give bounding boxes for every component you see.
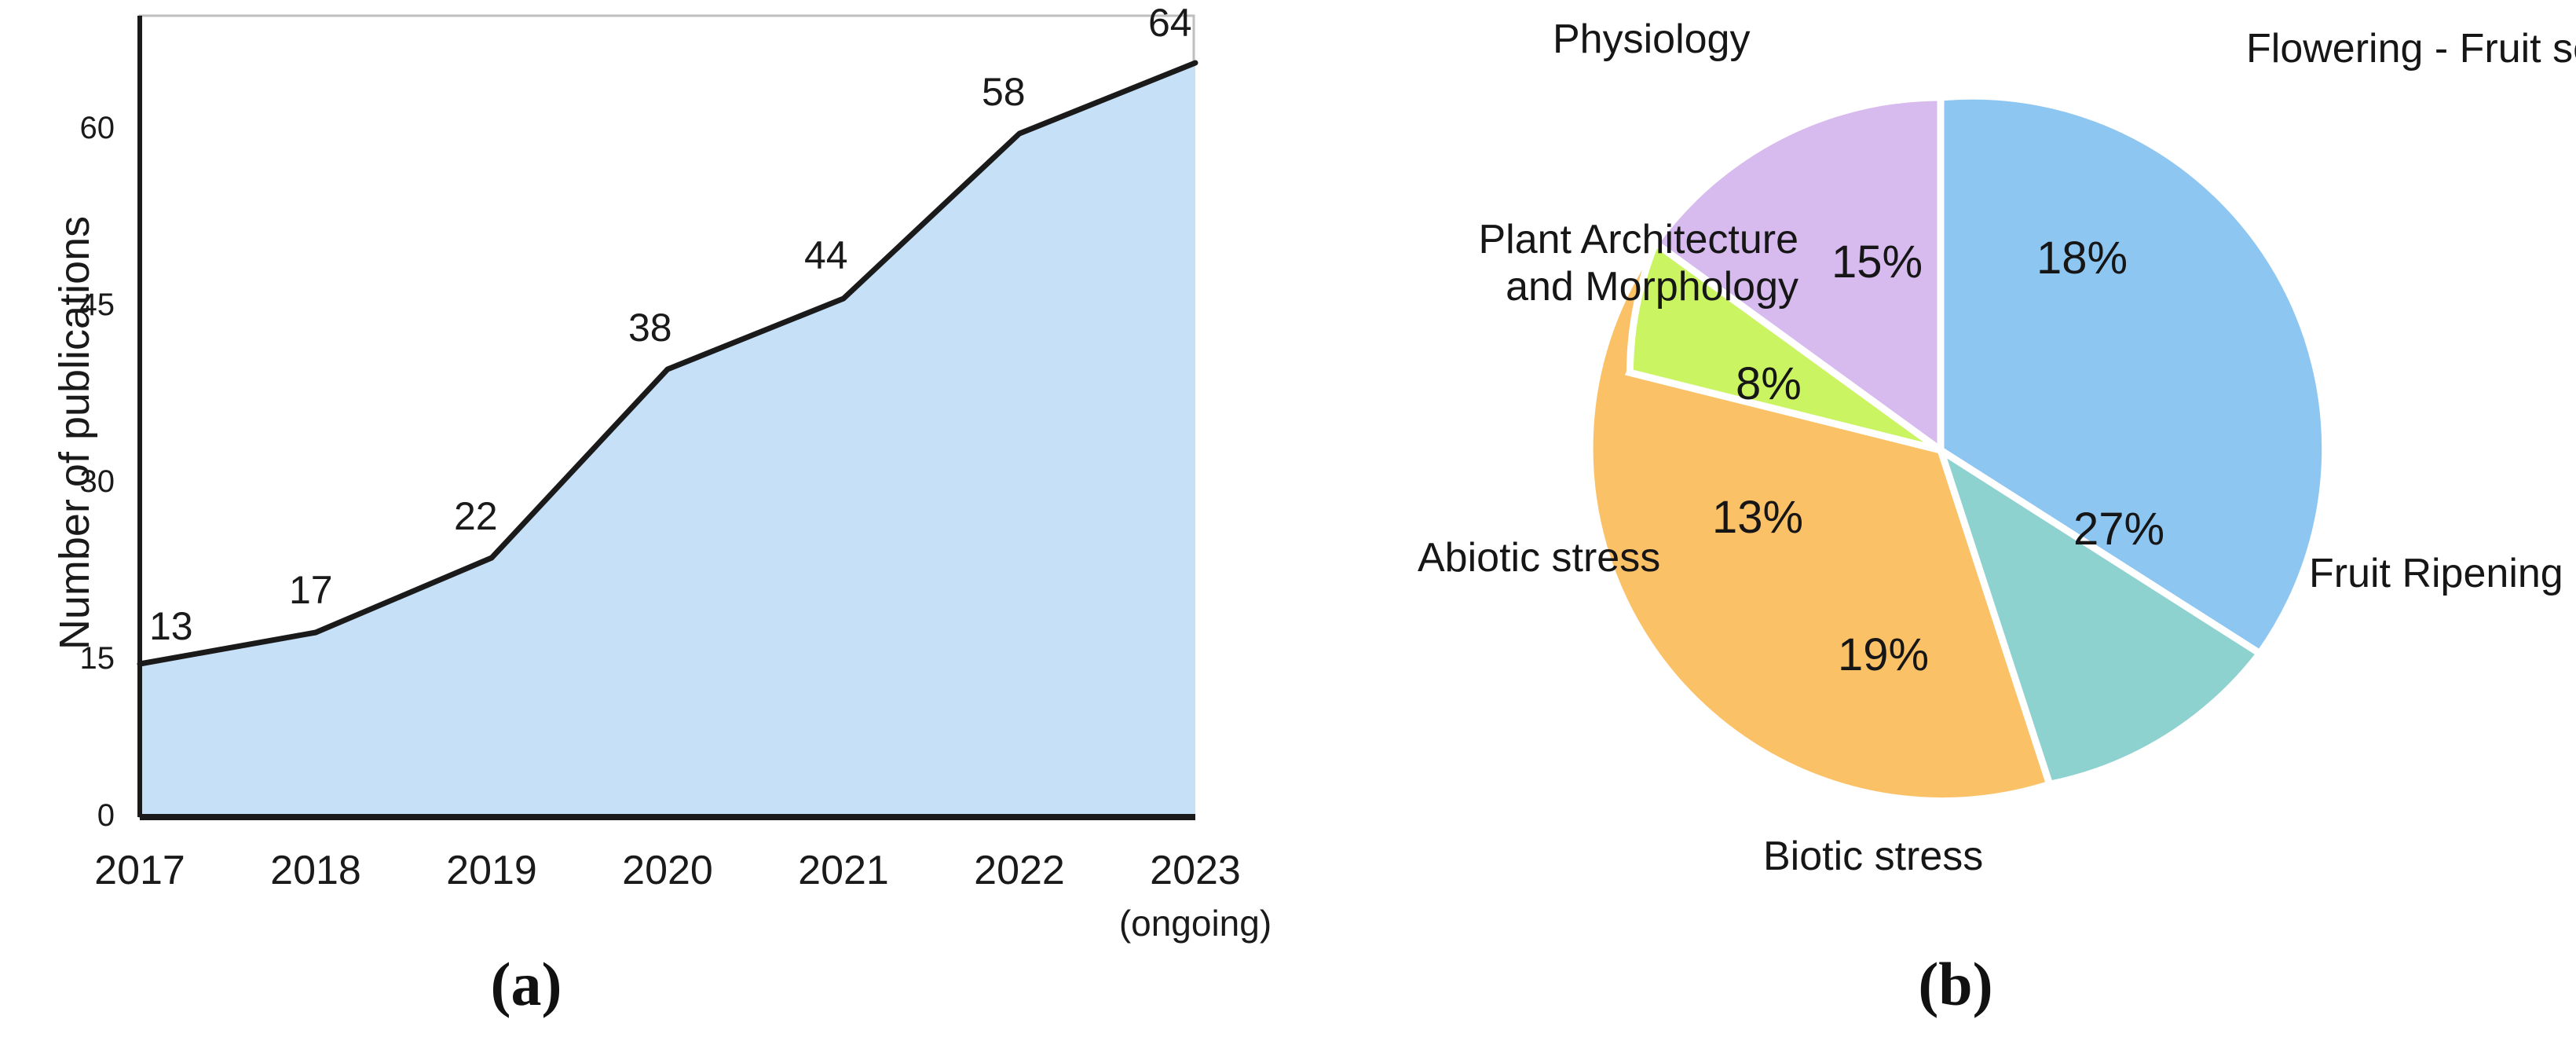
- pie-label-abiotic-stress: Abiotic stress: [1418, 534, 1660, 581]
- point-label-2023: 64: [1148, 0, 1192, 46]
- panel-b-pie-chart: 18% 27% 19% 13% 8% 15% Flowering - Fruit…: [1288, 0, 2576, 1041]
- point-label-2017: 13: [149, 603, 193, 649]
- pie-percent-plant-architecture-and-morphology: 8%: [1736, 357, 1802, 410]
- pie-label-flowering-fruit-set: Flowering - Fruit set: [2246, 25, 2576, 72]
- x-tick-2023: 2023: [1070, 847, 1321, 894]
- pie-percent-fruit-ripening: 27%: [2073, 503, 2164, 555]
- pie-label-plant-architecture-line-2: and Morphology: [1288, 263, 1798, 310]
- y-tick-30: 30: [47, 464, 115, 500]
- panel-b-caption: (b): [1838, 949, 2073, 1020]
- pie-slices: [1590, 96, 2325, 801]
- y-tick-45: 45: [47, 288, 115, 323]
- y-axis-title: Number of publications: [50, 158, 99, 708]
- pie-label-plant-architecture-and-morphology: Plant Architecture and Morphology: [1288, 216, 1798, 311]
- pie-percent-abiotic-stress: 13%: [1712, 491, 1803, 544]
- pie-label-biotic-stress: Biotic stress: [1763, 833, 1983, 880]
- pie-label-physiology: Physiology: [1553, 16, 1750, 63]
- point-label-2019: 22: [454, 493, 498, 539]
- pie-label-fruit-ripening: Fruit Ripening: [2309, 550, 2563, 597]
- pie-percent-physiology: 15%: [1831, 236, 1923, 288]
- y-tick-0: 0: [47, 798, 115, 834]
- panel-a-area-chart: Number of publications 60 45 30 15 0 201…: [0, 0, 1288, 1041]
- point-label-2022: 58: [982, 69, 1026, 115]
- y-tick-15: 15: [47, 641, 115, 676]
- point-label-2021: 44: [804, 233, 848, 278]
- x-tick-2023-sublabel: (ongoing): [1070, 902, 1321, 944]
- figure-root: Number of publications 60 45 30 15 0 201…: [0, 0, 2576, 1041]
- point-label-2018: 17: [289, 567, 333, 613]
- pie-percent-flowering-fruit-set: 18%: [2036, 232, 2128, 284]
- y-tick-60: 60: [47, 111, 115, 146]
- panel-a-caption: (a): [408, 949, 644, 1020]
- pie-chart-svg: [1288, 0, 2576, 1041]
- pie-label-plant-architecture-line-1: Plant Architecture: [1288, 216, 1798, 263]
- pie-percent-biotic-stress: 19%: [1838, 629, 1929, 681]
- point-label-2020: 38: [628, 305, 672, 350]
